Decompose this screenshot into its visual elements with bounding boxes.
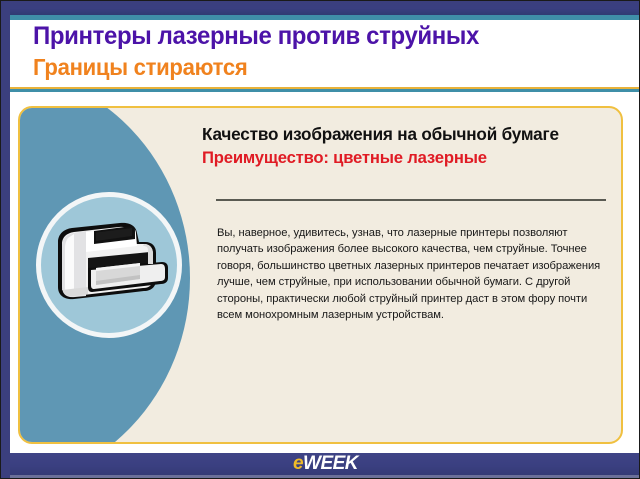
top-navy-bar bbox=[1, 1, 640, 15]
panel-heading: Качество изображения на обычной бумаге bbox=[202, 124, 559, 145]
eweek-logo: eWEEK bbox=[10, 453, 640, 475]
logo-week: WEEK bbox=[303, 453, 358, 474]
left-navy-strip bbox=[1, 1, 10, 479]
footer-bar: eWEEK bbox=[10, 453, 640, 475]
panel-body-text: Вы, наверное, удивитесь, узнав, что лазе… bbox=[217, 225, 613, 323]
slide-canvas: Принтеры лазерные против струйных Границ… bbox=[0, 0, 640, 479]
content-panel: Качество изображения на обычной бумаге П… bbox=[18, 106, 623, 444]
laser-printer-icon bbox=[44, 202, 174, 328]
panel-subheading: Преимущество: цветные лазерные bbox=[202, 148, 487, 168]
logo-e: e bbox=[293, 453, 303, 474]
footer-bottom-edge bbox=[10, 475, 640, 479]
slide-subtitle: Границы стираются bbox=[33, 54, 247, 81]
title-teal-rule bbox=[10, 89, 640, 92]
panel-divider bbox=[216, 199, 606, 201]
slide-title: Принтеры лазерные против струйных bbox=[33, 22, 479, 51]
title-block: Принтеры лазерные против струйных Границ… bbox=[10, 20, 640, 88]
